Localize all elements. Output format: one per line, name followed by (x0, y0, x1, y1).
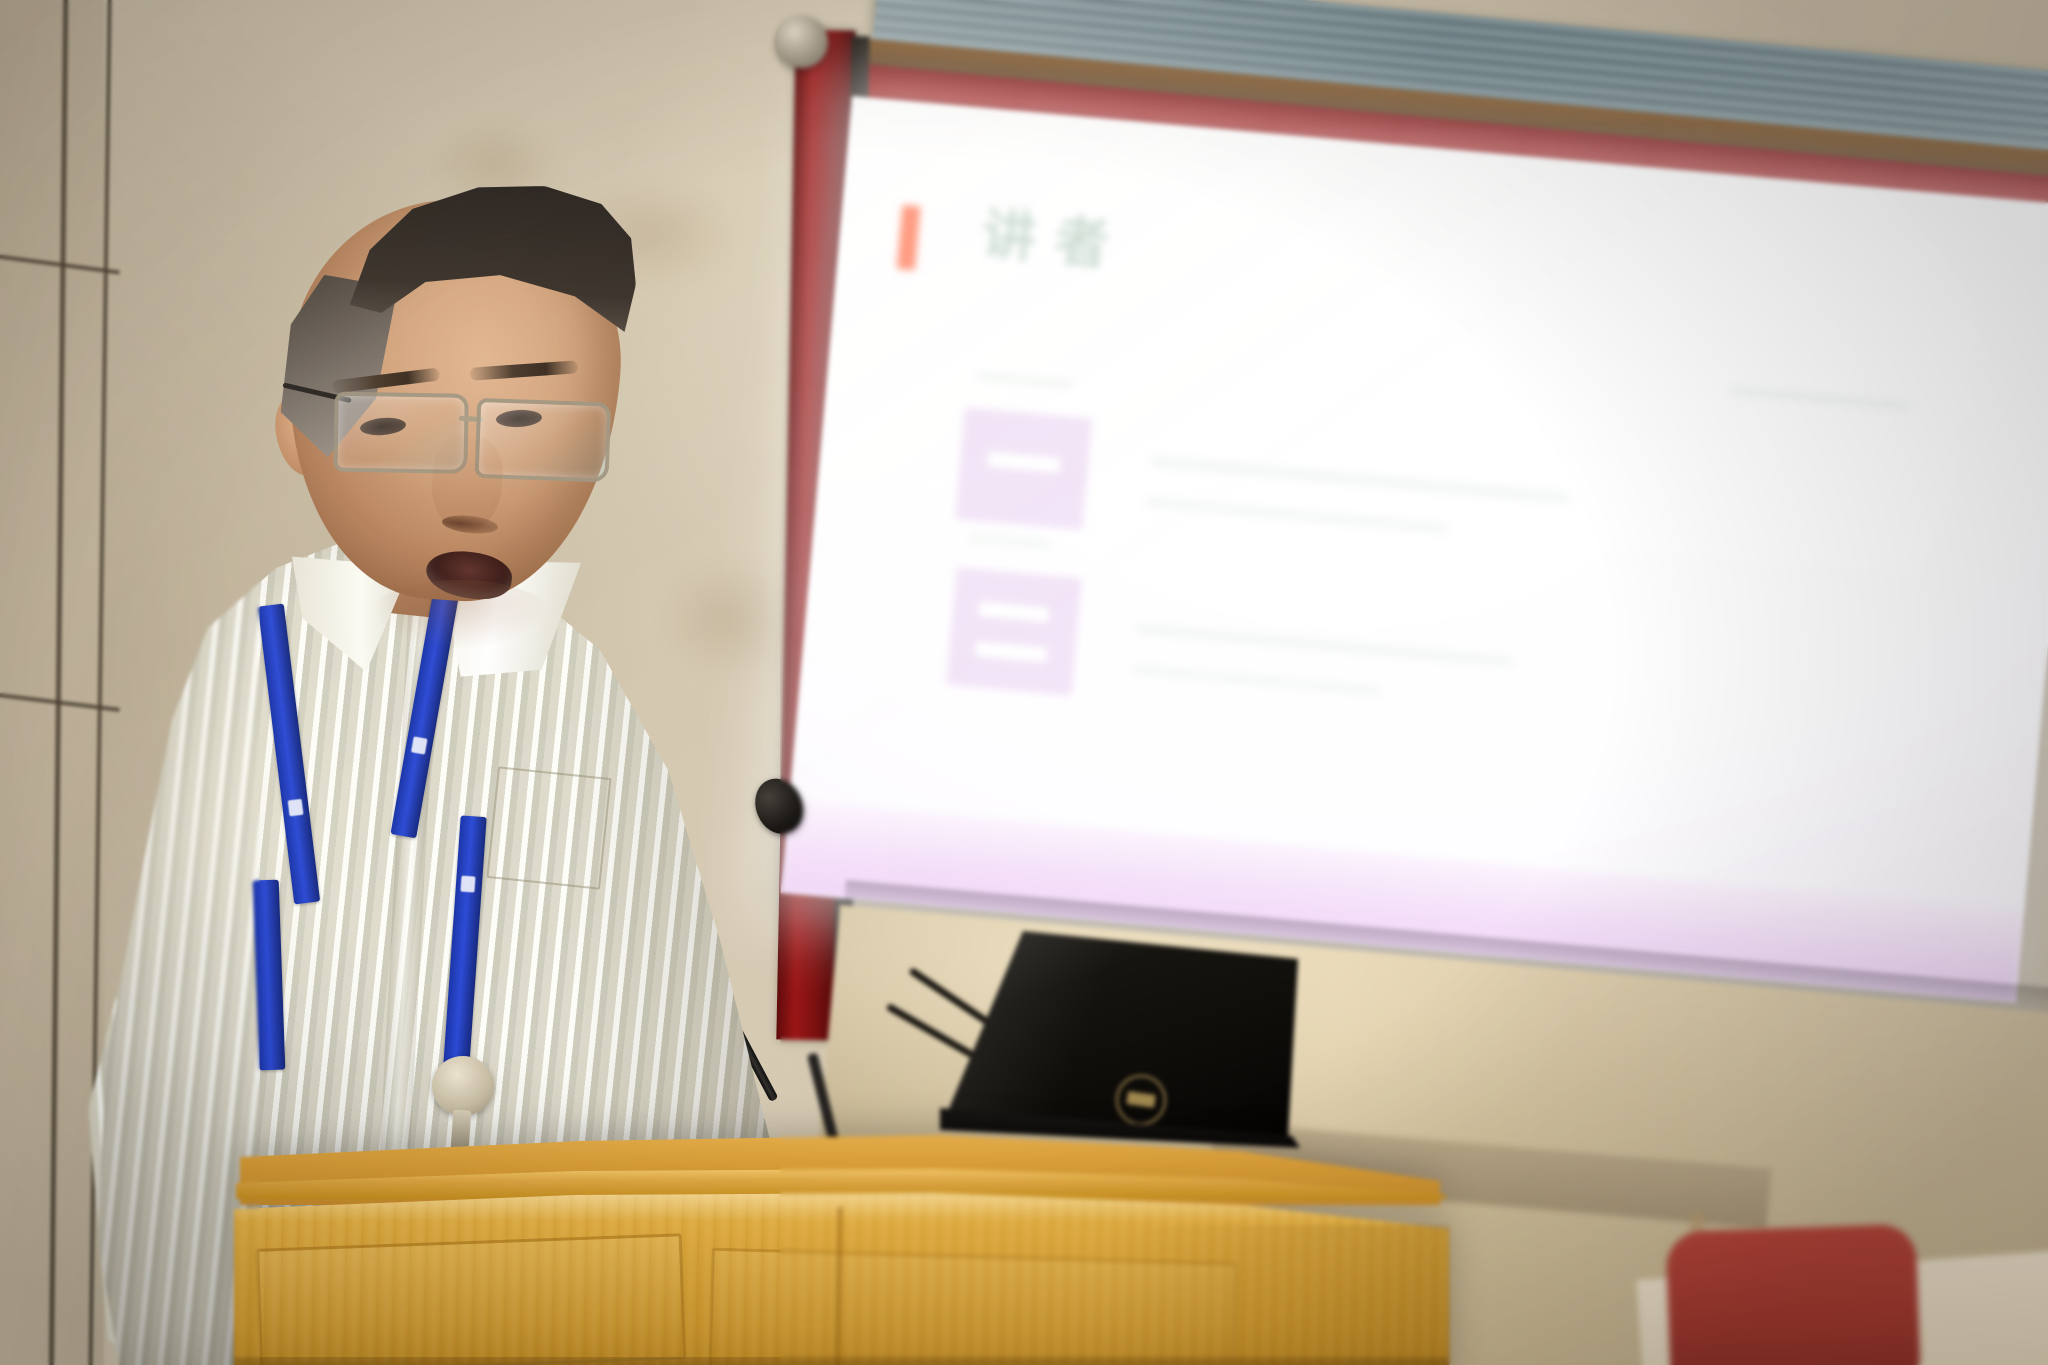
red-upholstered-chair (1668, 1220, 1928, 1365)
lanyard-logo (411, 736, 428, 754)
slide-ghost-text (1147, 496, 1447, 535)
wooden-lectern (240, 1135, 1440, 1365)
lanyard-logo (460, 876, 475, 893)
photo-scene: 讲 者 (0, 0, 2048, 1365)
roller-end-cap (776, 16, 828, 68)
slide-ghost-text (977, 370, 1074, 389)
presentation-slide: 讲 者 (781, 96, 2048, 1003)
lectern-bottom-shadow (234, 1357, 1449, 1365)
dell-laptop (948, 925, 1328, 1155)
slide-content-box (946, 567, 1082, 696)
slide-box-text-bar (978, 601, 1049, 622)
slide-ghost-text (1132, 663, 1382, 697)
chair-backrest (1666, 1224, 1921, 1365)
slide-ghost-text (1135, 621, 1515, 669)
slide-ghost-text (969, 532, 1052, 550)
lectern-side-shading (1100, 1225, 1450, 1365)
shirt-pocket (486, 766, 611, 889)
lectern-recessed-panel (256, 1233, 686, 1365)
slide-title: 讲 者 (980, 204, 1114, 276)
slide-box-text-bar (988, 452, 1061, 473)
projection-screen: 讲 者 (781, 96, 2048, 1003)
slide-ghost-text (1729, 385, 1909, 411)
slide-box-text-bar (975, 641, 1048, 662)
slide-content-box (955, 407, 1092, 530)
presenter-chin-shadow (370, 580, 550, 650)
slide-accent-bar (897, 205, 921, 270)
lanyard-logo (288, 799, 304, 817)
slide-ghost-text (1150, 454, 1570, 505)
